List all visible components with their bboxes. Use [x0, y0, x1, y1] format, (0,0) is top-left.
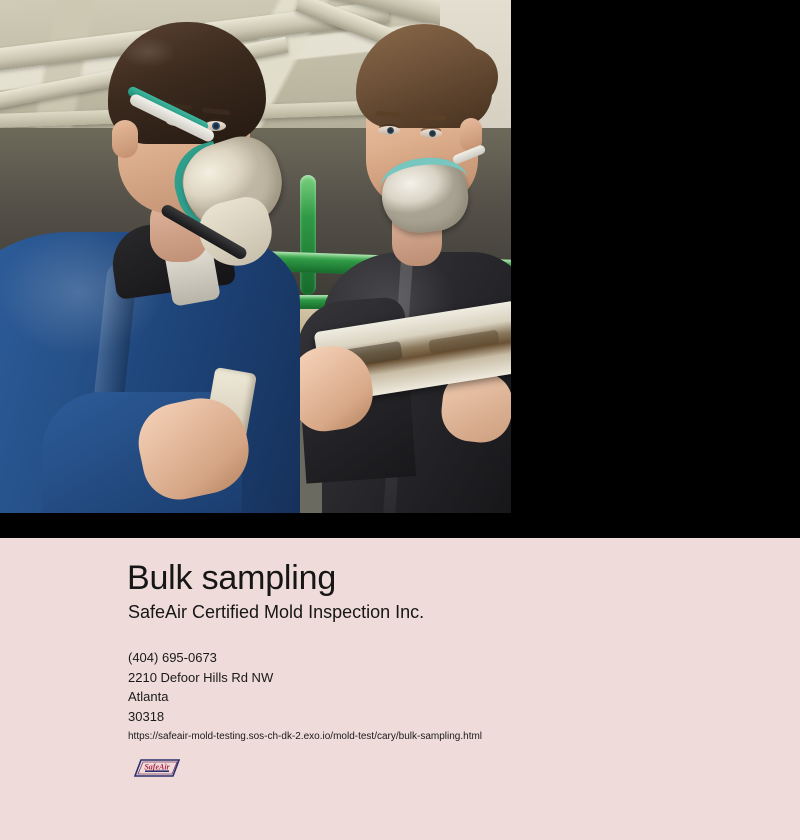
hero-photo	[0, 0, 511, 513]
woman-eye	[420, 129, 442, 138]
green-pipe	[300, 175, 316, 295]
svg-text:SafeAir: SafeAir	[144, 762, 170, 771]
woman-eye	[378, 126, 400, 135]
page-url[interactable]: https://safeair-mold-testing.sos-ch-dk-2…	[128, 730, 482, 744]
page-title: Bulk sampling	[127, 558, 336, 598]
contact-phone[interactable]: (404) 695-0673	[128, 648, 273, 668]
safeair-logo[interactable]: SafeAir	[133, 757, 181, 781]
safeair-logo-icon: SafeAir	[133, 757, 181, 781]
contact-postal-code: 30318	[128, 707, 273, 727]
photo-scene	[0, 0, 511, 513]
contact-city: Atlanta	[128, 687, 273, 707]
contact-street: 2210 Defoor Hills Rd NW	[128, 668, 273, 688]
man-ear	[112, 120, 138, 158]
hero-band	[0, 0, 800, 538]
company-name: SafeAir Certified Mold Inspection Inc.	[128, 600, 424, 624]
mold-stain	[428, 330, 499, 355]
contact-block: (404) 695-0673 2210 Defoor Hills Rd NW A…	[128, 648, 273, 726]
content-area: Bulk sampling SafeAir Certified Mold Ins…	[0, 538, 800, 840]
